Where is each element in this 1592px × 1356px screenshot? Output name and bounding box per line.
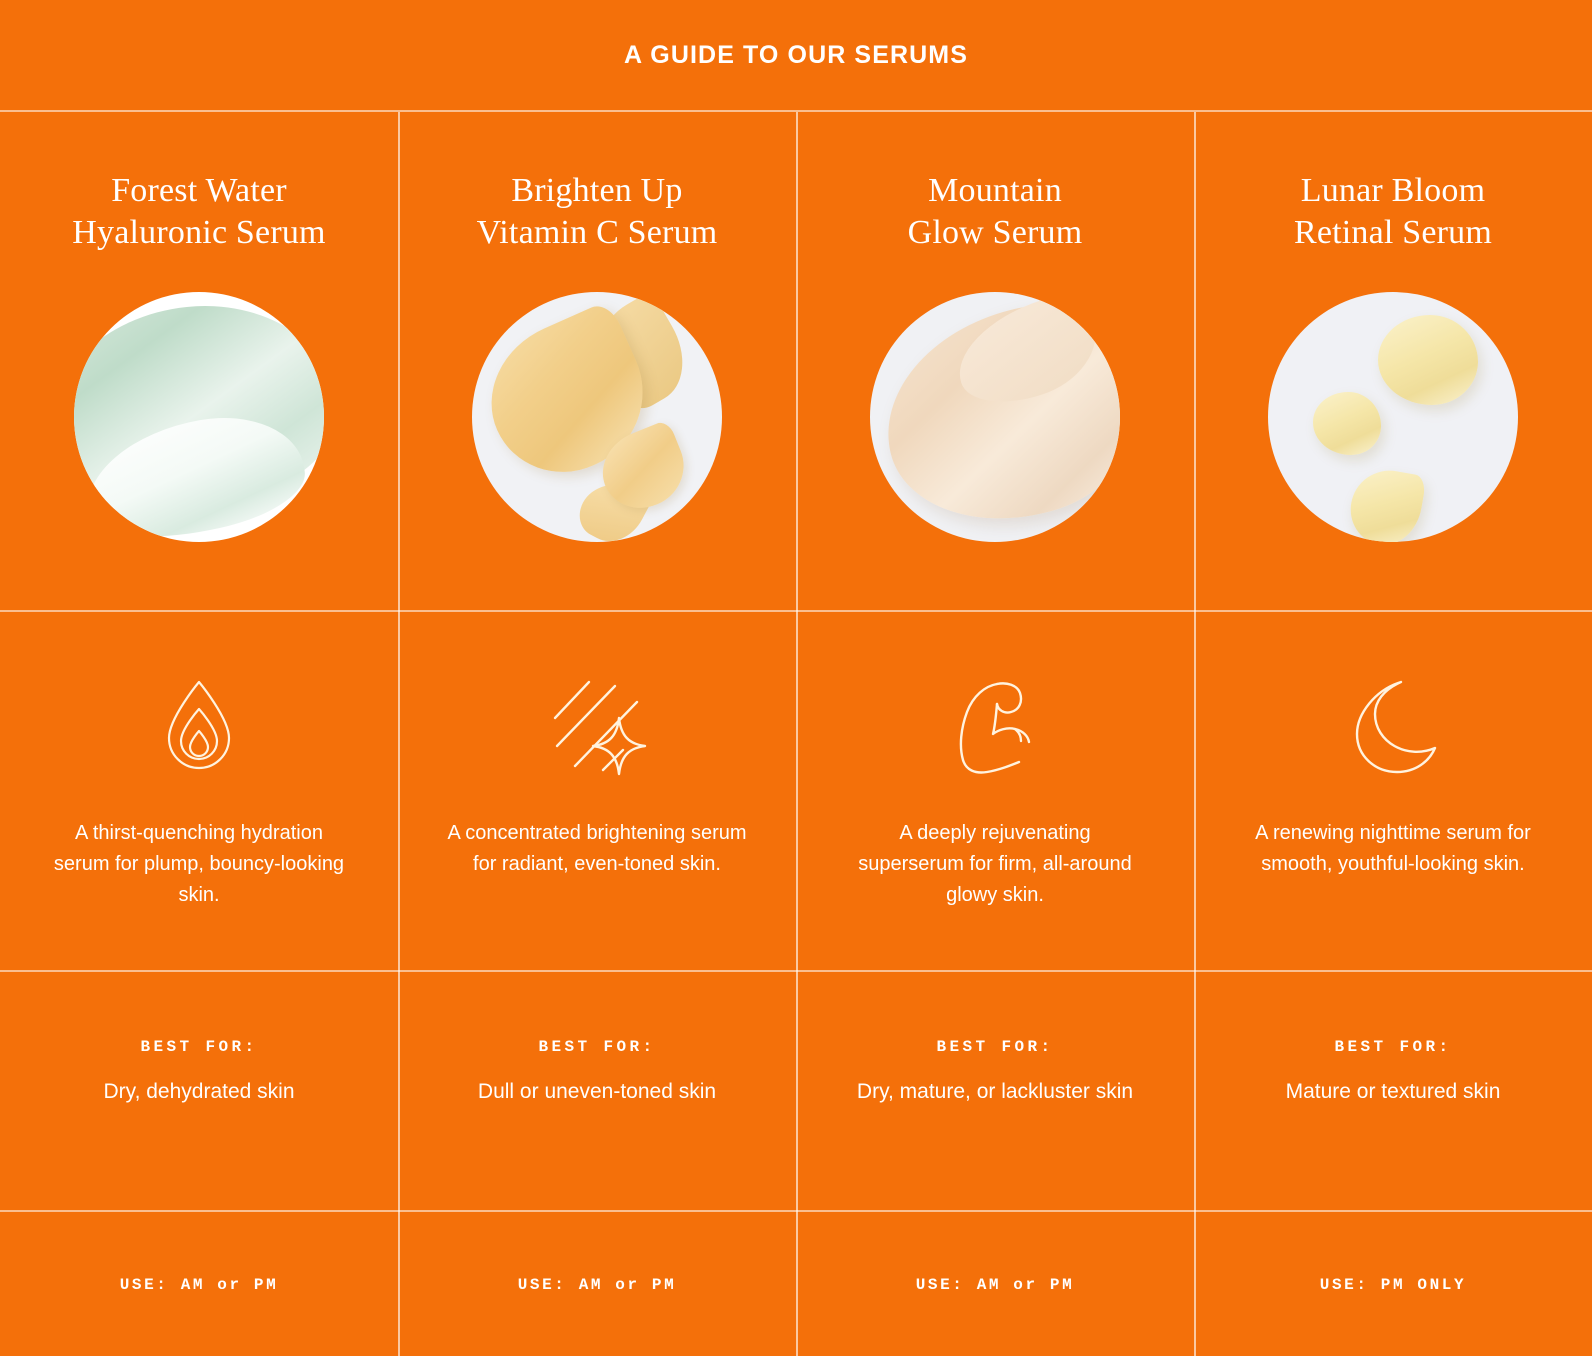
best-for-label: BEST FOR:	[936, 1038, 1053, 1056]
best-for-cell: BEST FOR: Dry, dehydrated skin	[0, 972, 398, 1212]
cream-swipe-swatch	[870, 292, 1120, 542]
flexed-bicep-icon	[949, 668, 1041, 784]
best-for-label: BEST FOR:	[1334, 1038, 1451, 1056]
product-title: Lunar Bloom Retinal Serum	[1294, 170, 1492, 254]
benefit-cell: A concentrated brightening serum for rad…	[398, 612, 796, 972]
best-for-cell: BEST FOR: Dry, mature, or lackluster ski…	[796, 972, 1194, 1212]
sparkle-rays-icon	[545, 668, 649, 784]
serum-column-forest-water[interactable]: Forest Water Hyaluronic Serum A thirst-q…	[0, 112, 398, 1356]
swatch-droplet-large	[1378, 315, 1478, 405]
page-title: A GUIDE TO OUR SERUMS	[624, 41, 968, 70]
product-header-cell: Mountain Glow Serum	[796, 112, 1194, 612]
product-title-line2: Vitamin C Serum	[477, 214, 718, 251]
best-for-cell: BEST FOR: Mature or textured skin	[1194, 972, 1592, 1212]
swatch-droplet-small	[1313, 392, 1381, 455]
crescent-moon-icon	[1345, 668, 1441, 784]
use-cell: USE: AM or PM	[0, 1212, 398, 1356]
product-header-cell: Brighten Up Vitamin C Serum	[398, 112, 796, 612]
use-cell: USE: AM or PM	[398, 1212, 796, 1356]
swatch-droplet-teardrop	[1345, 464, 1427, 542]
serum-column-brighten-up[interactable]: Brighten Up Vitamin C Serum	[398, 112, 796, 1356]
product-title: Forest Water Hyaluronic Serum	[72, 170, 325, 254]
benefit-cell: A deeply rejuvenating superserum for fir…	[796, 612, 1194, 972]
product-description: A thirst-quenching hydration serum for p…	[49, 818, 349, 911]
use-label: USE: AM or PM	[916, 1276, 1075, 1294]
serum-comparison-grid: Forest Water Hyaluronic Serum A thirst-q…	[0, 110, 1592, 1356]
use-label: USE: AM or PM	[518, 1276, 677, 1294]
use-label: USE: AM or PM	[120, 1276, 279, 1294]
benefit-cell: A thirst-quenching hydration serum for p…	[0, 612, 398, 972]
product-title-line2: Glow Serum	[908, 214, 1083, 251]
page-header: A GUIDE TO OUR SERUMS	[0, 0, 1592, 110]
product-description: A renewing nighttime serum for smooth, y…	[1243, 818, 1543, 880]
serum-guide-page: A GUIDE TO OUR SERUMS Forest Water Hyalu…	[0, 0, 1592, 1356]
golden-drops-swatch	[472, 292, 722, 542]
pale-yellow-droplets-swatch	[1268, 292, 1518, 542]
serum-column-lunar-bloom[interactable]: Lunar Bloom Retinal Serum	[1194, 112, 1592, 1356]
use-cell: USE: AM or PM	[796, 1212, 1194, 1356]
product-description: A deeply rejuvenating superserum for fir…	[845, 818, 1145, 911]
product-title-line2: Retinal Serum	[1294, 214, 1492, 251]
product-description: A concentrated brightening serum for rad…	[447, 818, 747, 880]
serum-column-mountain-glow[interactable]: Mountain Glow Serum A deeply	[796, 112, 1194, 1356]
product-title: Mountain Glow Serum	[908, 170, 1083, 254]
use-cell: USE: PM ONLY	[1194, 1212, 1592, 1356]
product-header-cell: Lunar Bloom Retinal Serum	[1194, 112, 1592, 612]
benefit-cell: A renewing nighttime serum for smooth, y…	[1194, 612, 1592, 972]
product-title-line1: Forest Water	[111, 172, 287, 209]
product-title: Brighten Up Vitamin C Serum	[477, 170, 718, 254]
water-droplet-icon	[161, 668, 237, 784]
product-title-line1: Lunar Bloom	[1301, 172, 1485, 209]
product-title-line1: Mountain	[928, 172, 1062, 209]
best-for-label: BEST FOR:	[538, 1038, 655, 1056]
use-label: USE: PM ONLY	[1320, 1276, 1466, 1294]
mint-green-gel-swatch	[74, 292, 324, 542]
best-for-cell: BEST FOR: Dull or uneven-toned skin	[398, 972, 796, 1212]
best-for-value: Dull or uneven-toned skin	[478, 1076, 716, 1107]
product-header-cell: Forest Water Hyaluronic Serum	[0, 112, 398, 612]
product-title-line2: Hyaluronic Serum	[72, 214, 325, 251]
best-for-value: Mature or textured skin	[1286, 1076, 1501, 1107]
best-for-value: Dry, dehydrated skin	[103, 1076, 294, 1107]
best-for-value: Dry, mature, or lackluster skin	[857, 1076, 1133, 1107]
product-title-line1: Brighten Up	[511, 172, 682, 209]
best-for-label: BEST FOR:	[140, 1038, 257, 1056]
